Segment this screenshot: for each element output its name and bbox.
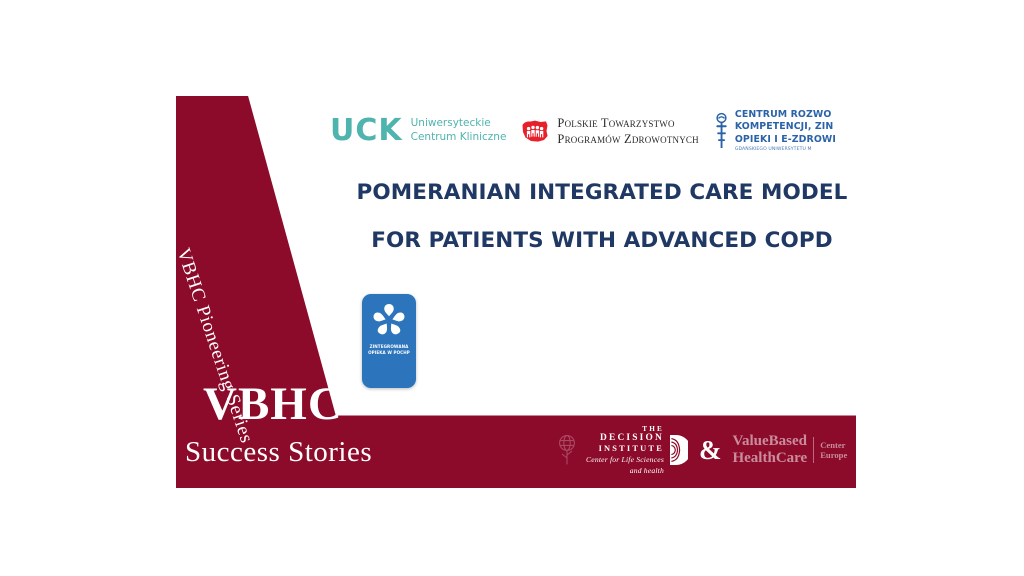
slide-canvas: VBHC Pioneering Series VBHC Success Stor…: [0, 0, 1024, 576]
di-the: THE: [586, 425, 664, 433]
ptpz-label-line2: Programów Zdrowotnych: [557, 132, 698, 146]
copd-badge-line2: OPIEKA W POCHP: [368, 350, 410, 355]
ptpz-logo: Polskie Towarzystwo Programów Zdrowotnyc…: [520, 115, 698, 147]
uck-label-line2: Centrum Kliniczne: [411, 131, 507, 143]
ptpz-logo-label: Polskie Towarzystwo Programów Zdrowotnyc…: [557, 115, 698, 147]
crk-logo: CENTRUM ROZWO KOMPETENCJI, ZIN OPIEKI I …: [713, 109, 839, 153]
globe-figure-icon: [556, 431, 582, 469]
vbhc-center-name-line1: ValueBased: [732, 433, 806, 449]
di-tagline-line1: Center for Life Sciences: [586, 455, 664, 464]
crk-label-line2: KOMPETENCJI, ZIN: [735, 121, 833, 132]
footer-logo-row: THE DECISION INSTITUTE Center for Life S…: [556, 418, 847, 482]
vbhc-center-region-line2: Europe: [820, 450, 847, 460]
uck-logo-icon: UCK: [330, 116, 403, 146]
poland-map-icon: [520, 116, 550, 146]
crk-logo-label: CENTRUM ROZWO KOMPETENCJI, ZIN OPIEKI I …: [735, 109, 836, 153]
vbhc-center-name: ValueBased HealthCare: [732, 433, 807, 467]
crk-label-line3: OPIEKI I E-ZDROWI: [735, 134, 836, 145]
logo-divider: [813, 437, 814, 463]
di-tagline-line2: and health: [586, 466, 664, 475]
vbhc-subtitle: Success Stories: [185, 438, 372, 467]
partner-logo-row: UCK Uniwersyteckie Centrum Kliniczne: [330, 103, 860, 159]
vbhc-wordmark: VBHC: [203, 381, 343, 428]
ptpz-label-line1: Polskie Towarzystwo: [557, 116, 674, 130]
decision-institute-logo: THE DECISION INSTITUTE Center for Life S…: [556, 425, 688, 475]
uck-logo: UCK Uniwersyteckie Centrum Kliniczne: [330, 116, 506, 146]
vbhc-center-region: Center Europe: [820, 440, 847, 461]
decision-institute-d-icon: [668, 434, 688, 466]
copd-program-badge: ZINTEGROWANA OPIEKA W POCHP: [362, 294, 416, 388]
decision-institute-label: THE DECISION INSTITUTE Center for Life S…: [586, 425, 664, 475]
ampersand-separator: &: [697, 437, 724, 464]
title-line-1: POMERANIAN INTEGRATED CARE MODEL: [352, 182, 852, 204]
di-institute: INSTITUTE: [586, 444, 664, 454]
title-line-2: FOR PATIENTS WITH ADVANCED COPD: [352, 230, 852, 252]
uck-label-line1: Uniwersyteckie: [411, 117, 491, 129]
copd-badge-label: ZINTEGROWANA OPIEKA W POCHP: [368, 344, 410, 356]
caduceus-icon: [713, 112, 730, 150]
flower-star-icon: [370, 301, 408, 339]
copd-badge-line1: ZINTEGROWANA: [370, 344, 409, 349]
vbhc-center-europe-logo: ValueBased HealthCare Center Europe: [732, 433, 847, 467]
vbhc-center-name-line2: HealthCare: [732, 450, 807, 466]
crk-label-line1: CENTRUM ROZWO: [735, 109, 832, 120]
crk-label-fine: GDAŃSKIEGO UNIWERSYTETU M: [735, 147, 836, 153]
di-decision: DECISION: [586, 433, 664, 444]
slide-title: POMERANIAN INTEGRATED CARE MODEL FOR PAT…: [352, 182, 852, 251]
vbhc-center-region-line1: Center: [820, 440, 845, 450]
uck-logo-label: Uniwersyteckie Centrum Kliniczne: [411, 117, 507, 145]
